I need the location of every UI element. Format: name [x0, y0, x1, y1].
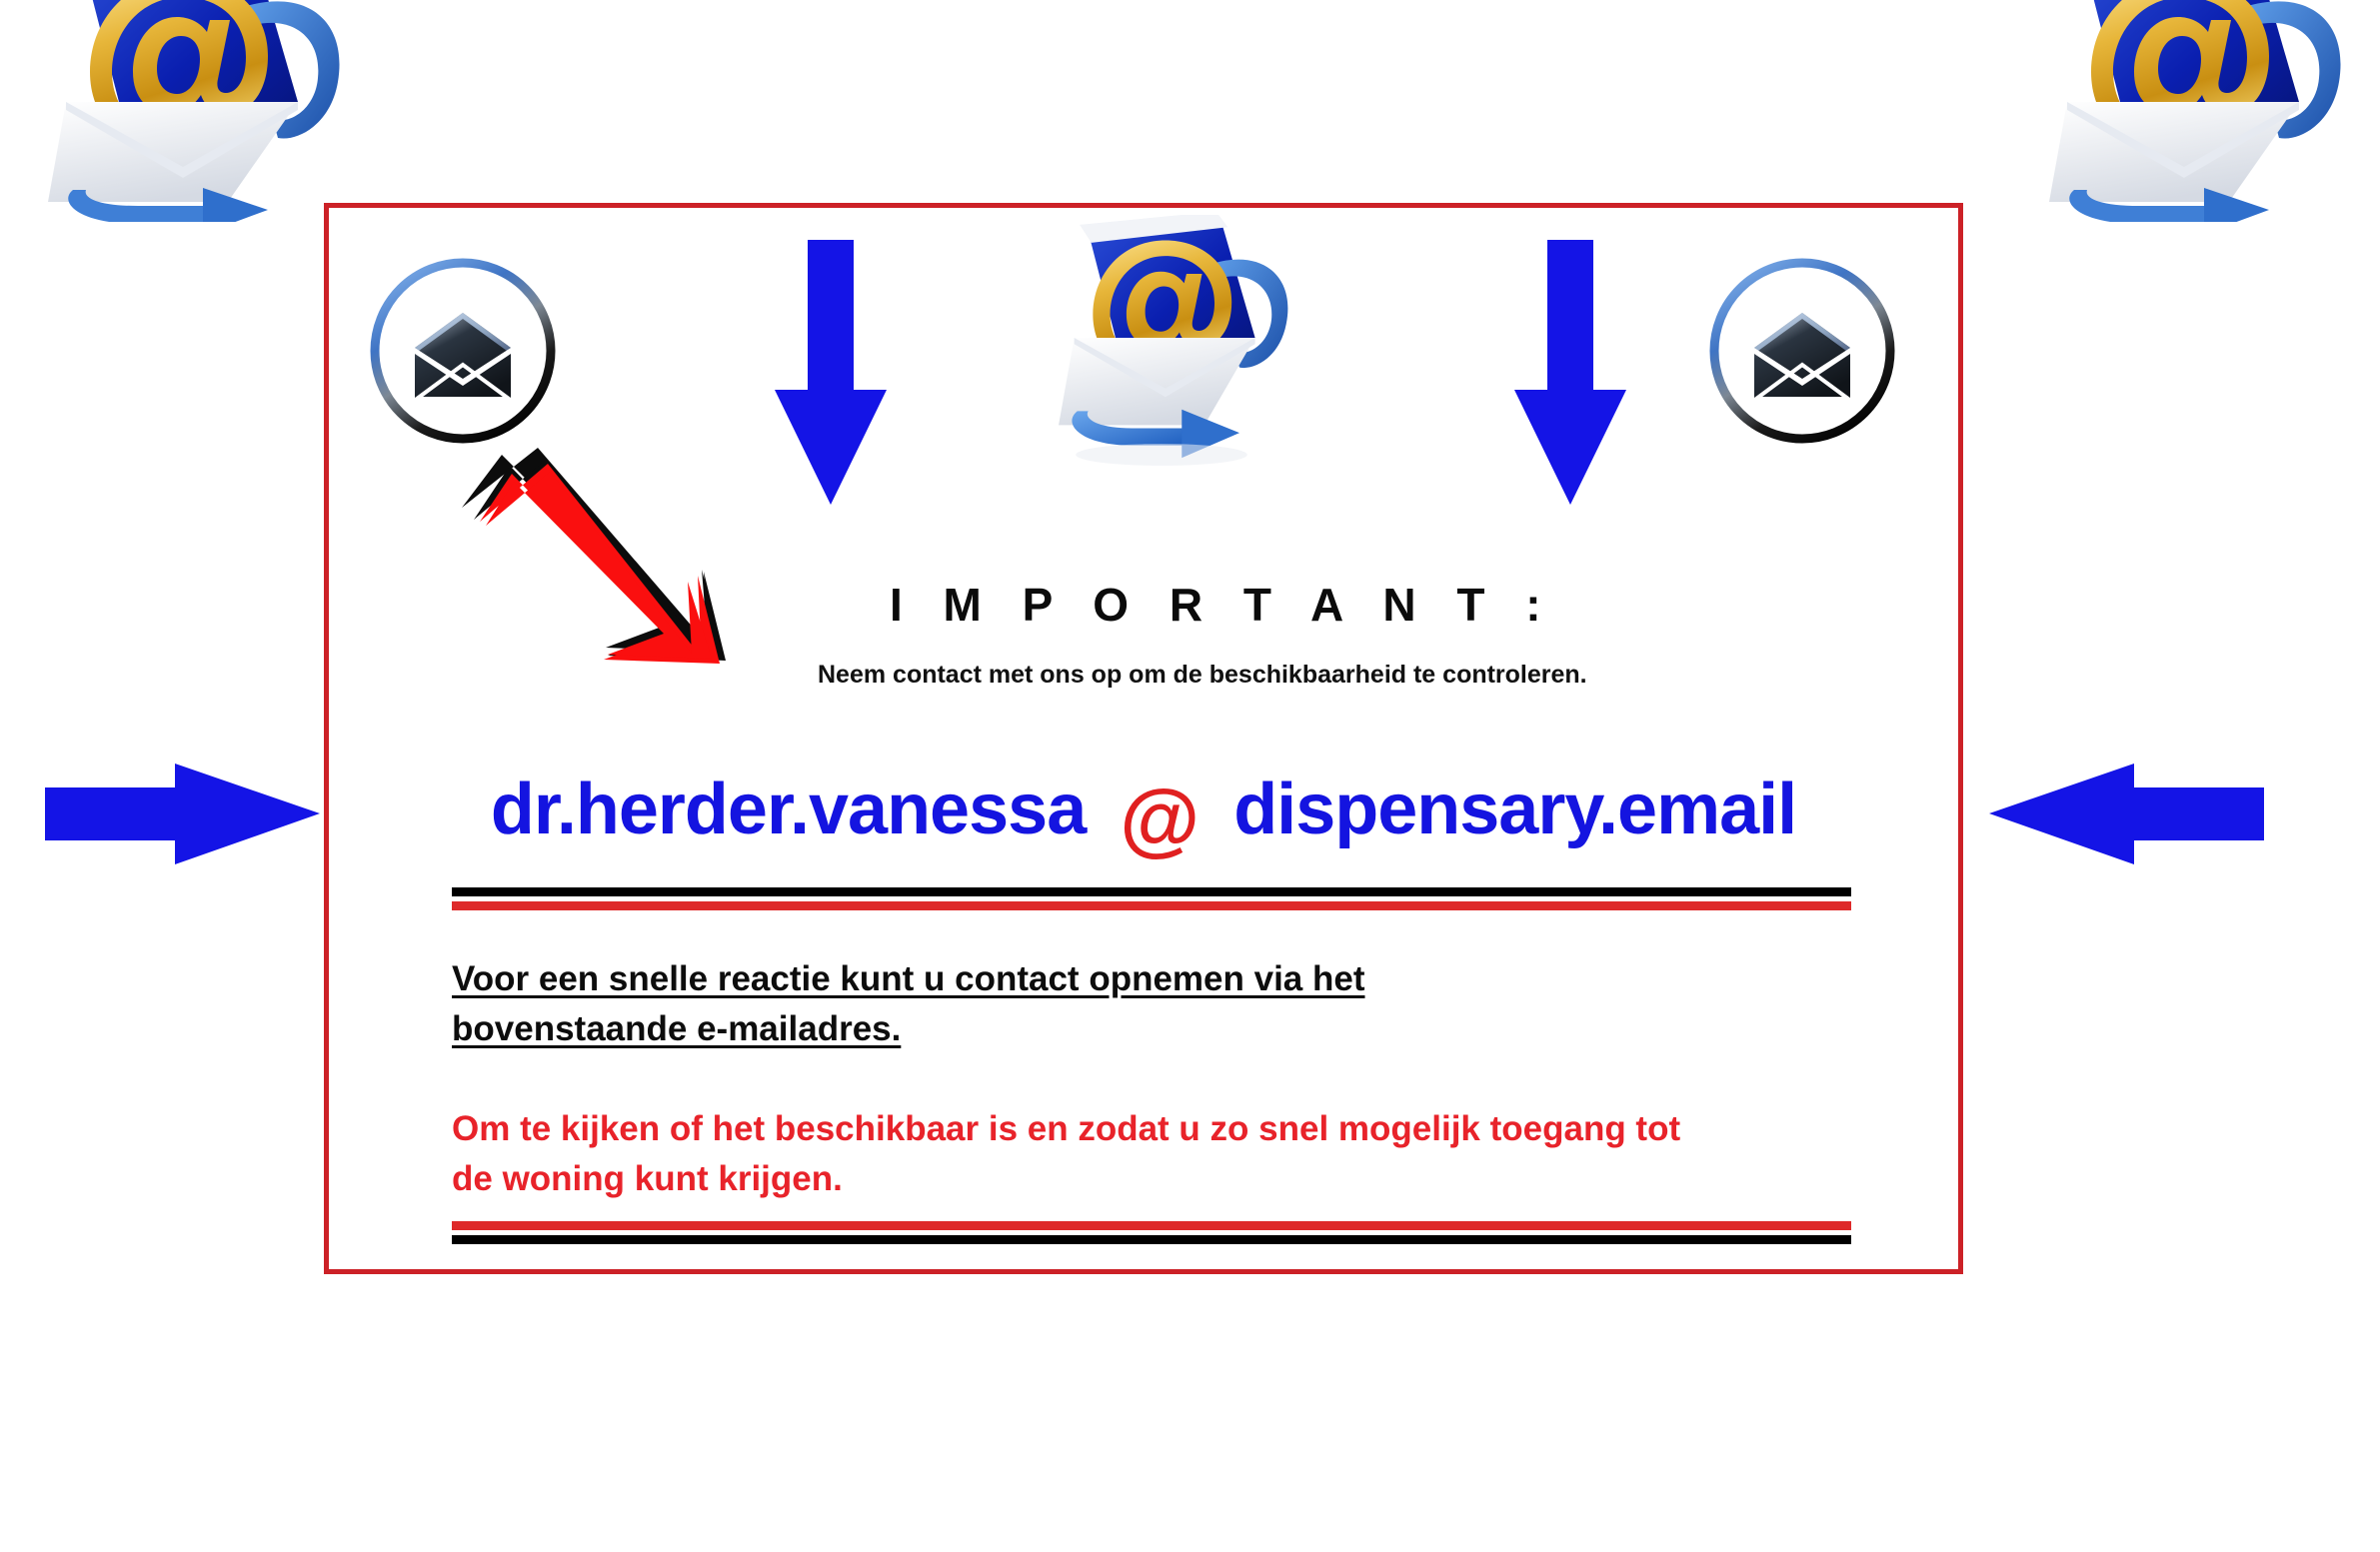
fast-response-text: Voor een snelle reactie kunt u contact o…: [452, 959, 1365, 1048]
corner-email-graphic-top-right: [1989, 0, 2380, 222]
envelope-circle-icon-right: [1704, 253, 1900, 449]
contact-note-text: Neem contact met ons op om de beschikbaa…: [818, 658, 1627, 694]
blue-down-arrow-icon-left: [775, 240, 887, 505]
at-symbol-icon: @: [1120, 778, 1199, 860]
email-domain-part[interactable]: dispensary.email: [1233, 774, 1796, 845]
divider-bar-red: [452, 1221, 1851, 1230]
email-local-part[interactable]: dr.herder.vanessa: [491, 774, 1086, 845]
email-address-row[interactable]: dr.herder.vanessa @ dispensary.email: [324, 755, 1963, 864]
divider-top: [452, 887, 1851, 910]
email-envelope-at-graphic-center: [1000, 215, 1309, 545]
divider-bar-black: [452, 1235, 1851, 1244]
blue-left-arrow-icon: [1989, 762, 2264, 866]
availability-paragraph: Om te kijken of het beschikbaar is en zo…: [452, 1104, 1721, 1203]
blue-right-arrow-icon: [45, 762, 320, 866]
envelope-circle-icon-left: [365, 253, 561, 449]
fast-response-paragraph: Voor een snelle reactie kunt u contact o…: [452, 954, 1581, 1053]
divider-bar-red: [452, 901, 1851, 910]
red-diagonal-arrow-icon: [440, 440, 740, 670]
blue-down-arrow-icon-right: [1514, 240, 1626, 505]
corner-email-graphic-top-left: [0, 0, 388, 222]
page-title: I M P O R T A N T :: [890, 578, 1555, 632]
divider-bar-black: [452, 887, 1851, 896]
divider-bottom: [452, 1221, 1851, 1244]
